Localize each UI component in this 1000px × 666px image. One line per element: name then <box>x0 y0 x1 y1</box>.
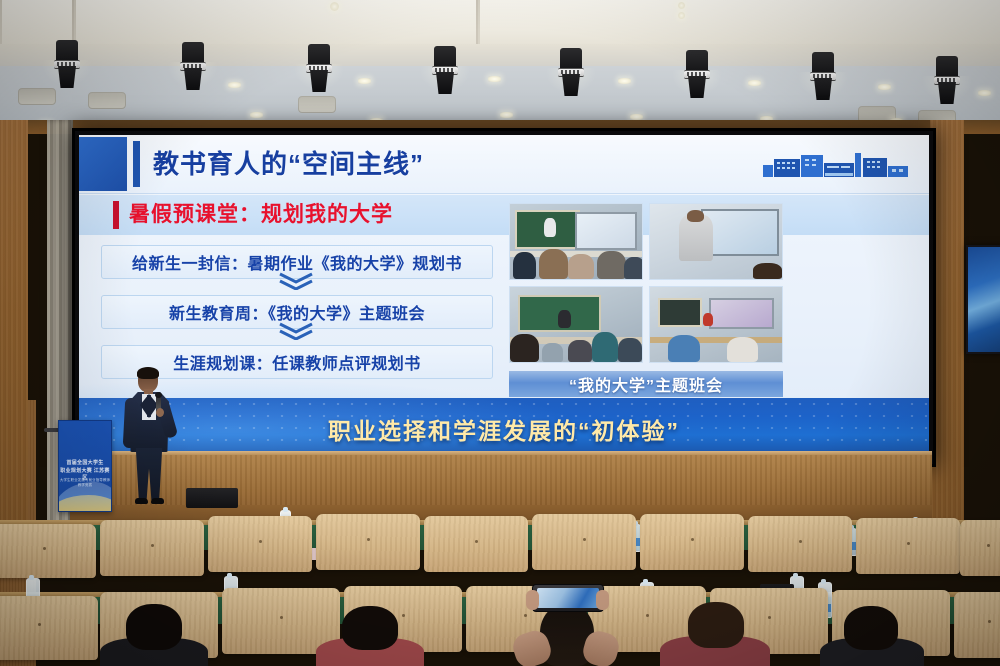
double-chevron-down-icon <box>274 272 318 290</box>
lecture-hall-photo: 教书育人的“空间主线” <box>0 0 1000 666</box>
grid-photo-1 <box>509 203 643 280</box>
grid-photo-2 <box>649 203 783 280</box>
grid-photo-3 <box>509 286 643 363</box>
ceiling <box>0 0 1000 126</box>
projection-screen: 教书育人的“空间主线” <box>72 128 936 467</box>
ceiling-spotlight <box>432 46 458 96</box>
photo-grid <box>509 203 783 363</box>
grid-photo-4 <box>649 286 783 363</box>
double-chevron-down-icon <box>274 322 318 340</box>
header-accent-bar <box>133 141 140 187</box>
ceiling-spotlight <box>180 42 206 92</box>
secondary-display <box>966 245 1000 354</box>
highlight-accent-tick <box>113 201 119 229</box>
audience-member <box>316 606 424 666</box>
audience-member <box>100 604 208 666</box>
podium-line-1: 首届全国大学生 <box>59 459 111 466</box>
chair <box>954 592 1000 658</box>
ceiling-spotlight <box>54 40 80 90</box>
phone-screen <box>537 588 599 608</box>
presentation-slide: 教书育人的“空间主线” <box>79 135 929 460</box>
slide-highlight-row: 暑假预课堂：规划我的大学 1 学时 <box>79 195 929 235</box>
ceiling-spotlight <box>810 52 836 102</box>
ceiling-spotlight <box>558 48 584 98</box>
smartphone <box>532 584 604 612</box>
chair <box>0 596 98 660</box>
campus-buildings-icon <box>761 149 911 183</box>
header-accent-block <box>79 137 127 191</box>
slide-title: 教书育人的“空间主线” <box>153 143 424 185</box>
highlight-title: 暑假预课堂：规划我的大学 <box>129 199 393 231</box>
audience-member <box>660 602 770 666</box>
attendee-filming <box>512 560 622 666</box>
slide-header: 教书育人的“空间主线” <box>79 135 929 194</box>
ceiling-spotlight <box>934 56 960 106</box>
audience-member <box>820 606 924 666</box>
ceiling-spotlight <box>306 44 332 94</box>
ceiling-spotlight <box>684 50 710 100</box>
